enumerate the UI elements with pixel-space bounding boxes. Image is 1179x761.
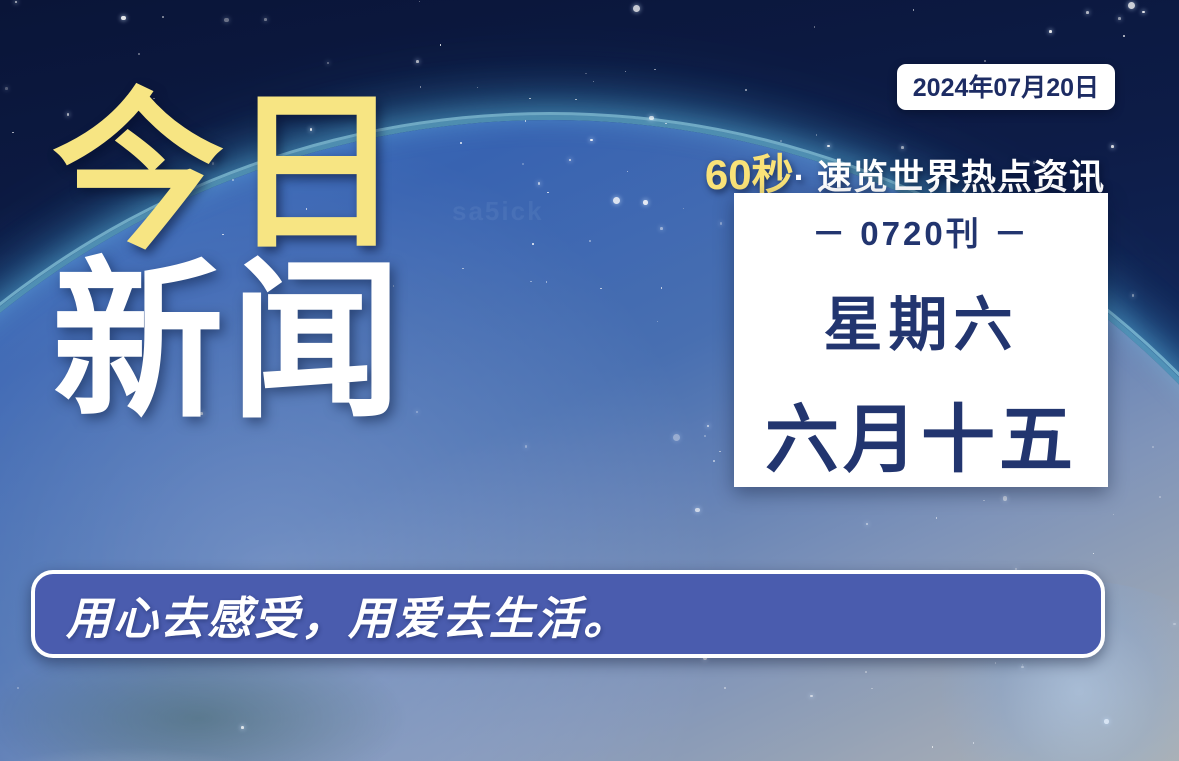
issue-number: － 0720刊 －	[812, 207, 1030, 255]
tagline-seconds: 60秒	[705, 151, 794, 198]
weekday-label: 星期六	[823, 277, 1018, 362]
lunar-date-label: 六月十五	[765, 380, 1077, 487]
motto-banner: 用心去感受，用爱去生活。	[31, 570, 1105, 658]
tagline-description: · 速览世界热点资讯	[794, 158, 1105, 197]
poster-title: 今日 新闻	[52, 92, 408, 425]
news-poster: sa5ick 2024年07月20日 60秒· 速览世界热点资讯 今日 新闻 －…	[0, 0, 1179, 761]
motto-text: 用心去感受，用爱去生活。	[66, 582, 630, 647]
date-badge: 2024年07月20日	[897, 64, 1115, 110]
issue-info-card: － 0720刊 － 星期六 六月十五	[734, 193, 1108, 487]
title-line-today: 今日	[52, 92, 408, 255]
title-line-news: 新闻	[52, 261, 408, 424]
